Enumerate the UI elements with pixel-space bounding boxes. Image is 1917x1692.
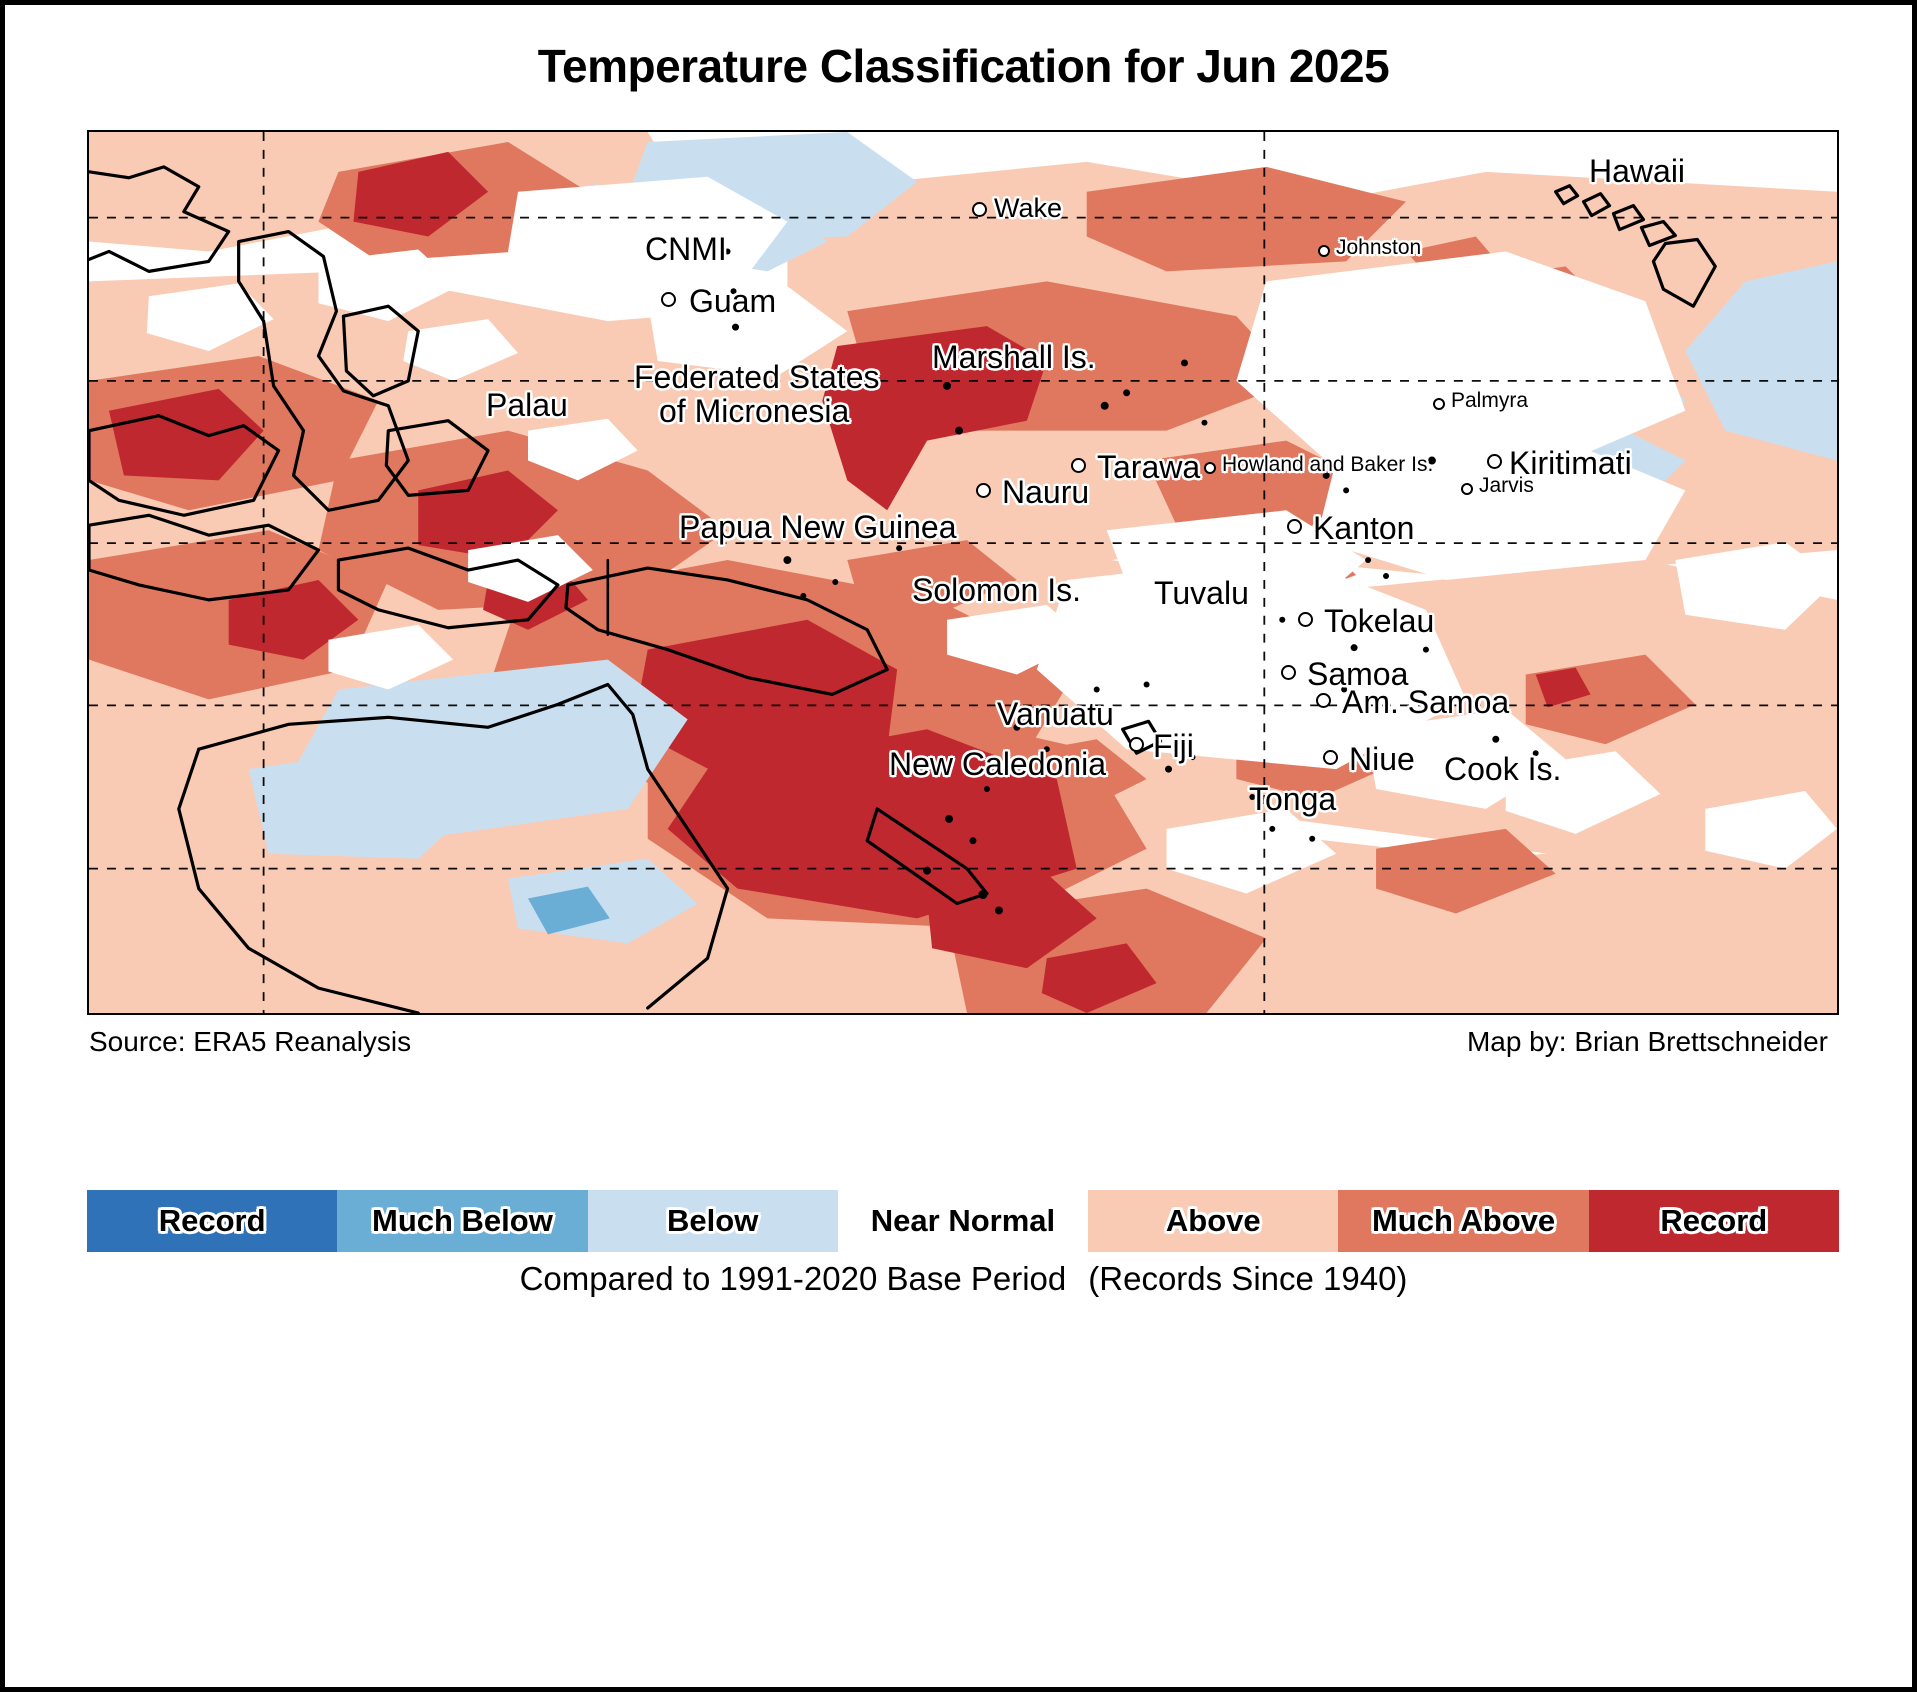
map-credit-text: Map by: Brian Brettschneider bbox=[1467, 1026, 1828, 1058]
map-marker-dot bbox=[661, 292, 676, 307]
map-marker-dot bbox=[1287, 519, 1302, 534]
map-marker-dot bbox=[1487, 454, 1502, 469]
legend-caption-left: Compared to 1991-2020 Base Period bbox=[520, 1260, 1067, 1297]
legend-label: Record bbox=[1660, 1203, 1767, 1239]
legend-swatch-much-above[interactable]: Much Above bbox=[1338, 1190, 1588, 1252]
map-marker-dot bbox=[1433, 398, 1445, 410]
map-source-text: Source: ERA5 Reanalysis bbox=[89, 1026, 411, 1058]
legend-swatch-below[interactable]: Below bbox=[588, 1190, 838, 1252]
map-place-label: Cook Is. bbox=[1444, 752, 1561, 787]
classification-legend: RecordMuch BelowBelowNear NormalAboveMuc… bbox=[87, 1190, 1839, 1252]
legend-swatch-record[interactable]: Record bbox=[87, 1190, 337, 1252]
map-place-label: Kanton bbox=[1313, 511, 1414, 546]
map-marker-dot bbox=[1071, 458, 1086, 473]
map-marker-dot bbox=[1204, 462, 1216, 474]
map-marker-dot bbox=[1316, 693, 1331, 708]
legend-label: Record bbox=[159, 1203, 266, 1239]
legend-label: Much Below bbox=[372, 1203, 553, 1239]
map-marker-dot bbox=[972, 202, 987, 217]
map-place-label: Palmyra bbox=[1451, 390, 1528, 413]
map-place-label: of Micronesia bbox=[659, 394, 849, 429]
map-marker-dot bbox=[1318, 245, 1330, 257]
map-place-label: Am. Samoa bbox=[1342, 685, 1509, 720]
legend-caption-right: (Records Since 1940) bbox=[1088, 1260, 1407, 1297]
map-place-label: Tuvalu bbox=[1154, 576, 1249, 611]
map-marker-dot bbox=[976, 483, 991, 498]
page-title: Temperature Classification for Jun 2025 bbox=[5, 39, 1917, 93]
map-marker-dot bbox=[1281, 665, 1296, 680]
chart-page: Temperature Classification for Jun 2025 bbox=[0, 0, 1917, 1692]
map-place-label: Tarawa bbox=[1097, 450, 1200, 485]
map-place-label: Papua New Guinea bbox=[679, 510, 957, 545]
temperature-map: HawaiiWakeJohnstonCNMIGuamMarshall Is.Pa… bbox=[87, 130, 1839, 1015]
legend-caption: Compared to 1991-2020 Base Period(Record… bbox=[5, 1260, 1917, 1298]
map-place-label: Guam bbox=[689, 284, 776, 319]
legend-label: Above bbox=[1166, 1203, 1261, 1239]
legend-swatch-record[interactable]: Record bbox=[1589, 1190, 1839, 1252]
map-marker-dot bbox=[1461, 483, 1473, 495]
map-marker-dot bbox=[1129, 737, 1144, 752]
map-place-label: Niue bbox=[1349, 742, 1415, 777]
map-place-label: Wake bbox=[994, 194, 1062, 223]
legend-label: Below bbox=[667, 1203, 758, 1239]
map-marker-dot bbox=[1323, 750, 1338, 765]
map-place-label: Hawaii bbox=[1589, 154, 1685, 189]
legend-swatch-above[interactable]: Above bbox=[1088, 1190, 1338, 1252]
map-place-label: Fiji bbox=[1153, 729, 1194, 764]
map-place-label: Solomon Is. bbox=[912, 573, 1081, 608]
map-place-label: Vanuatu bbox=[997, 697, 1114, 732]
map-place-label: Tokelau bbox=[1324, 604, 1434, 639]
map-marker-dot bbox=[1298, 612, 1313, 627]
map-place-label: Howland and Baker Is. bbox=[1222, 454, 1433, 477]
legend-label: Near Normal bbox=[871, 1203, 1055, 1239]
map-place-label: Marshall Is. bbox=[932, 340, 1096, 375]
legend-swatch-much-below[interactable]: Much Below bbox=[337, 1190, 587, 1252]
map-place-label: Federated States bbox=[634, 360, 879, 395]
legend-swatch-near-normal[interactable]: Near Normal bbox=[838, 1190, 1088, 1252]
legend-label: Much Above bbox=[1372, 1203, 1555, 1239]
map-place-label: Tonga bbox=[1249, 782, 1336, 817]
map-place-label: Johnston bbox=[1336, 237, 1421, 260]
map-place-label: New Caledonia bbox=[889, 747, 1106, 782]
map-place-label: CNMI bbox=[645, 232, 727, 267]
timeseries-panel: Degrees C 25.2525.5025.7526.0026.25 1940… bbox=[5, 1335, 1917, 1692]
map-place-label: Jarvis bbox=[1479, 475, 1534, 498]
map-place-label: Nauru bbox=[1002, 475, 1089, 510]
map-place-label: Palau bbox=[486, 388, 568, 423]
